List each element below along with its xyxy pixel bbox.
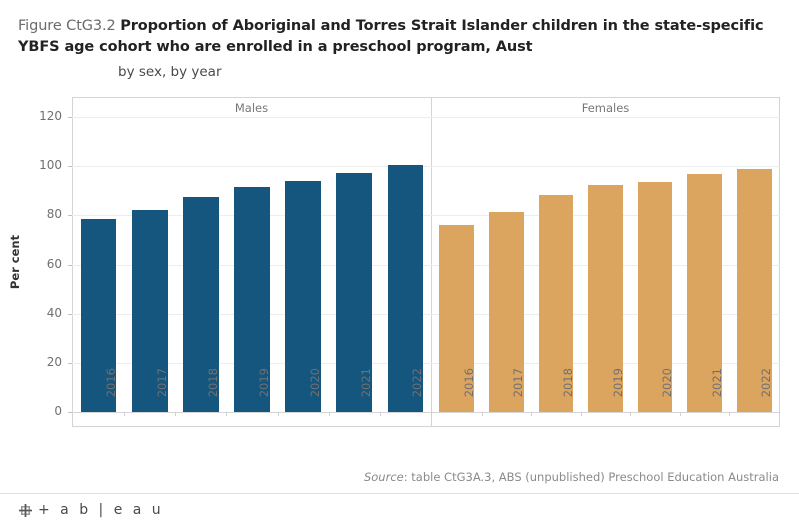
tableau-wordmark: + a b | e a u (38, 502, 164, 518)
gridline (72, 265, 780, 266)
y-axis-tick-label: 60 (18, 257, 62, 271)
x-axis-tick-label: 2016 (462, 368, 476, 416)
x-axis-tick-mark (729, 412, 730, 416)
x-axis-tick-label: 2018 (561, 368, 575, 416)
x-axis-tick-mark (680, 412, 681, 416)
y-axis-tick-mark (68, 166, 72, 167)
x-tick-row-border (72, 426, 780, 427)
x-axis-tick-label: 2022 (410, 368, 424, 416)
y-axis-tick-label: 120 (18, 109, 62, 123)
tableau-mark-icon (18, 503, 33, 518)
source-prefix: Source (364, 470, 404, 484)
x-axis-tick-mark (175, 412, 176, 416)
y-axis-line (72, 97, 73, 427)
y-axis-tick-label: 40 (18, 306, 62, 320)
panel-header-band: Males Females (72, 97, 780, 118)
x-axis-tick-label: 2020 (660, 368, 674, 416)
plot-right-border (779, 97, 780, 427)
y-axis-tick-mark (68, 117, 72, 118)
title-block: Figure CtG3.2 Proportion of Aboriginal a… (18, 16, 780, 58)
y-axis-tick-label: 0 (18, 404, 62, 418)
x-axis-tick-mark (380, 412, 381, 416)
y-axis-tick-mark (68, 215, 72, 216)
gridline (72, 117, 780, 118)
x-axis-tick-label: 2019 (611, 368, 625, 416)
y-axis-tick-mark (68, 412, 72, 413)
y-axis-tick-label: 100 (18, 158, 62, 172)
tableau-viz-container: Figure CtG3.2 Proportion of Aboriginal a… (0, 0, 799, 526)
x-axis-tick-mark (431, 412, 432, 416)
x-axis-tick-label: 2019 (257, 368, 271, 416)
source-text: : table CtG3A.3, ABS (unpublished) Presc… (404, 470, 779, 484)
x-axis-tick-mark (779, 412, 780, 416)
source-note: Source: table CtG3A.3, ABS (unpublished)… (364, 470, 779, 484)
x-axis-tick-mark (124, 412, 125, 416)
x-axis-tick-mark (329, 412, 330, 416)
x-axis-tick-label: 2021 (710, 368, 724, 416)
gridline (72, 363, 780, 364)
x-axis-tick-mark (226, 412, 227, 416)
gridline (72, 215, 780, 216)
x-axis-tick-label: 2020 (308, 368, 322, 416)
gridline (72, 314, 780, 315)
y-axis-tick-label: 20 (18, 355, 62, 369)
x-axis-tick-label: 2017 (155, 368, 169, 416)
gridline (72, 166, 780, 167)
y-axis-tick-mark (68, 314, 72, 315)
chart-subtitle: by sex, by year (118, 64, 222, 80)
x-axis-tick-label: 2022 (759, 368, 773, 416)
x-axis-tick-mark (581, 412, 582, 416)
y-axis-title: Per cent (8, 235, 22, 289)
title-text: Proportion of Aboriginal and Torres Stra… (18, 18, 763, 55)
tableau-logo[interactable]: + a b | e a u (18, 502, 164, 518)
page-title: Figure CtG3.2 Proportion of Aboriginal a… (18, 16, 780, 58)
x-axis-tick-label: 2018 (206, 368, 220, 416)
y-axis-tick-mark (68, 265, 72, 266)
x-axis-tick-mark (630, 412, 631, 416)
panel-divider (431, 97, 432, 427)
panel-header-females: Females (431, 98, 780, 119)
y-axis-tick-label: 80 (18, 207, 62, 221)
figure-label: Figure CtG3.2 (18, 18, 116, 34)
y-axis-tick-mark (68, 363, 72, 364)
panel-header-males: Males (72, 98, 431, 119)
x-axis-tick-mark (531, 412, 532, 416)
x-axis-tick-mark (482, 412, 483, 416)
x-axis-tick-label: 2021 (359, 368, 373, 416)
x-axis-tick-mark (278, 412, 279, 416)
x-axis-tick-label: 2017 (511, 368, 525, 416)
x-axis-tick-label: 2016 (104, 368, 118, 416)
viz-footer: + a b | e a u (0, 493, 799, 527)
